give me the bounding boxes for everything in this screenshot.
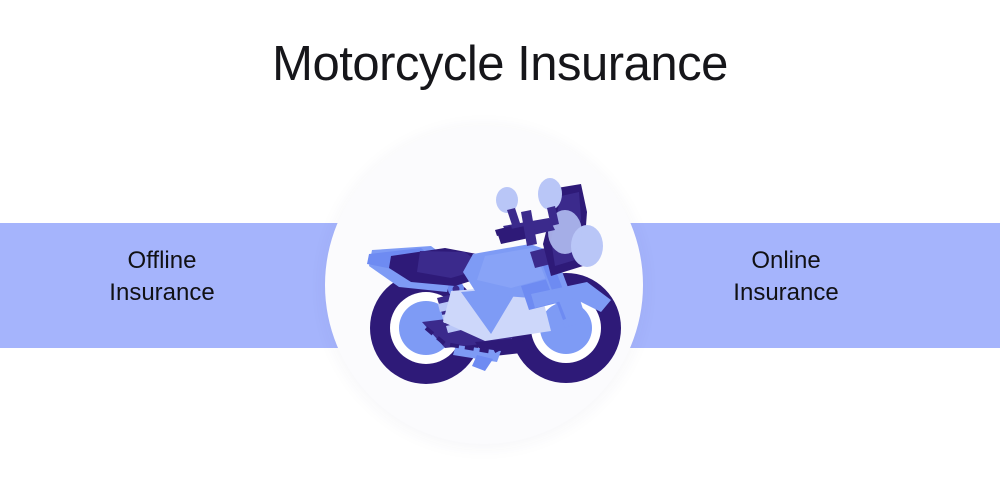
online-insurance-label-line1: Online — [636, 245, 936, 277]
motorcycle-icon — [325, 126, 643, 444]
offline-insurance-label-line1: Offline — [12, 245, 312, 277]
motorcycle-insurance-poster: Motorcycle Insurance Offline Insurance O… — [0, 0, 1000, 500]
page-title: Motorcycle Insurance — [0, 36, 1000, 92]
offline-insurance-label-line2: Insurance — [12, 277, 312, 309]
online-insurance-label: Online Insurance — [636, 245, 936, 308]
offline-insurance-label: Offline Insurance — [12, 245, 312, 308]
motorcycle-illustration — [325, 126, 643, 444]
online-insurance-label-line2: Insurance — [636, 277, 936, 309]
